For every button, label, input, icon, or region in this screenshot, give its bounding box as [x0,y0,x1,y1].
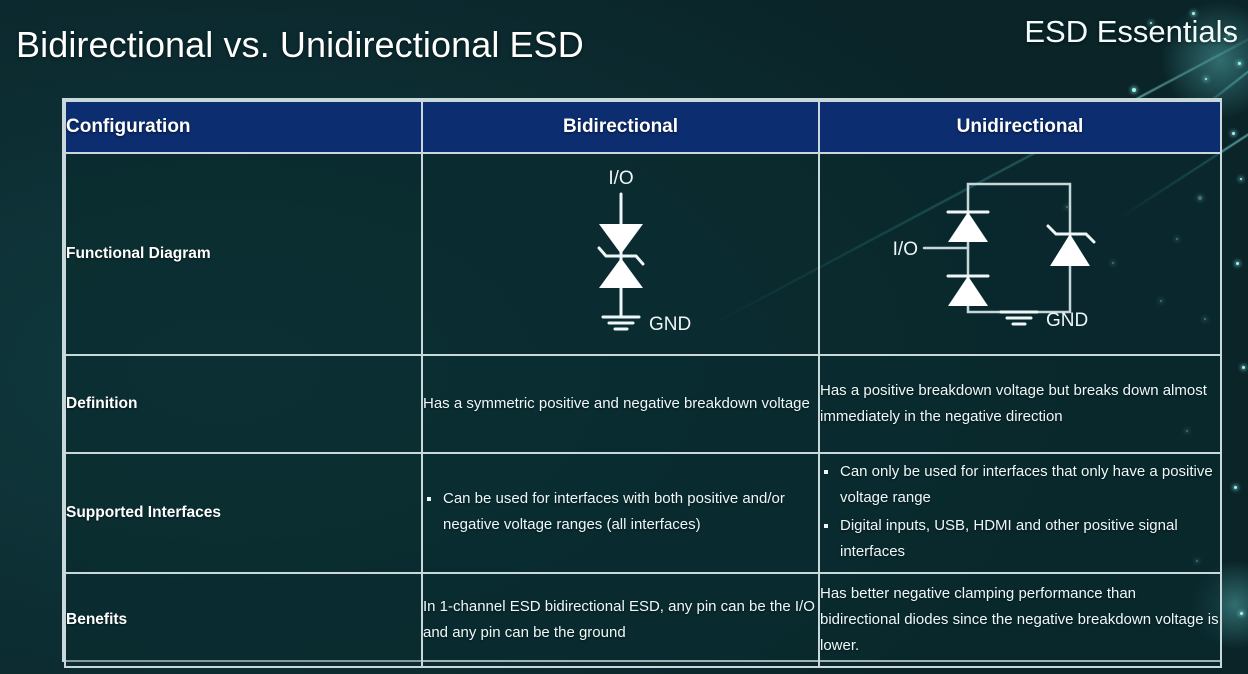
row-label-benefits: Benefits [65,573,422,667]
steering-diode-up-icon [948,276,988,306]
particle-dot-icon [1132,88,1136,92]
benefits-bidirectional-text: In 1-channel ESD bidirectional ESD, any … [422,573,819,667]
list-item: Digital inputs, USB, HDMI and other posi… [820,513,1220,565]
particle-dot-icon [1240,612,1243,615]
table-body: Functional Diagram [65,153,1221,667]
io-label: I/O [608,168,633,189]
row-label-supported-interfaces: Supported Interfaces [65,453,422,573]
definition-unidirectional-text: Has a positive breakdown voltage but bre… [819,355,1221,453]
io-label: I/O [893,239,918,260]
table-row: Definition Has a symmetric positive and … [65,355,1221,453]
definition-bidirectional-text: Has a symmetric positive and negative br… [422,355,819,453]
slide-canvas: Bidirectional vs. Unidirectional ESD ESD… [0,0,1248,674]
steering-diode-up-icon [948,212,988,242]
series-kicker: ESD Essentials [1024,14,1238,50]
particle-dot-icon [1205,78,1207,80]
comparison-table: Configuration Bidirectional Unidirection… [64,100,1222,668]
particle-dot-icon [1242,366,1245,369]
column-header-bidirectional: Bidirectional [422,101,819,153]
bullet-list: Can only be used for interfaces that onl… [820,459,1220,564]
particle-dot-icon [1238,62,1241,65]
list-item: Can only be used for interfaces that onl… [820,459,1220,511]
table-row: Benefits In 1-channel ESD bidirectional … [65,573,1221,667]
particle-dot-icon [1234,486,1237,489]
table-row: Supported Interfaces Can be used for int… [65,453,1221,573]
row-label-functional-diagram: Functional Diagram [65,153,422,355]
supported-interfaces-unidirectional: Can only be used for interfaces that onl… [819,453,1221,573]
bidirectional-tvs-diode-schematic: I/O GND [422,153,819,355]
particle-dot-icon [1236,262,1239,265]
unidirectional-diode-svg: I/O GND [880,162,1160,347]
column-header-unidirectional: Unidirectional [819,101,1221,153]
unidirectional-steering-diode-schematic: I/O GND [819,153,1221,355]
gnd-label: GND [649,314,691,335]
particle-dot-icon [1232,132,1235,135]
supported-interfaces-bidirectional: Can be used for interfaces with both pos… [422,453,819,573]
comparison-table-container: Configuration Bidirectional Unidirection… [62,98,1222,662]
bidirectional-diode-svg: I/O GND [511,162,731,347]
page-title: Bidirectional vs. Unidirectional ESD [16,24,584,66]
column-header-configuration: Configuration [65,101,422,153]
row-label-definition: Definition [65,355,422,453]
diode-triangle-up-icon [599,258,643,288]
table-header: Configuration Bidirectional Unidirection… [65,101,1221,153]
table-row: Functional Diagram [65,153,1221,355]
bullet-list: Can be used for interfaces with both pos… [423,486,818,538]
table-header-row: Configuration Bidirectional Unidirection… [65,101,1221,153]
list-item: Can be used for interfaces with both pos… [423,486,818,538]
gnd-label: GND [1046,310,1088,331]
diode-triangle-down-icon [599,224,643,254]
particle-dot-icon [1240,178,1242,180]
benefits-unidirectional-text: Has better negative clamping performance… [819,573,1221,667]
zener-diode-up-icon [1050,234,1090,266]
